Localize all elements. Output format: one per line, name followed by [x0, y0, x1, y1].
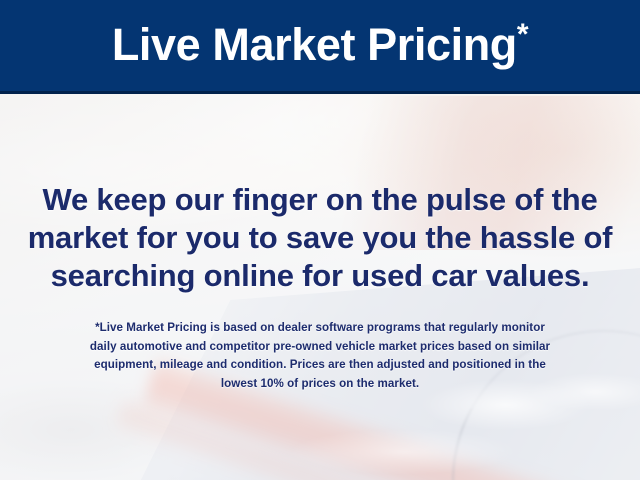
- banner-title-text: Live Market Pricing: [112, 19, 517, 70]
- banner-title: Live Market Pricing*: [112, 22, 528, 70]
- headline: We keep our finger on the pulse of the m…: [0, 181, 640, 295]
- banner-underline: [0, 91, 640, 94]
- disclaimer-line-2: daily automotive and competitor pre-owne…: [34, 338, 606, 357]
- disclaimer-line-3: equipment, mileage and condition. Prices…: [34, 356, 606, 375]
- disclaimer-line-4: lowest 10% of prices on the market.: [34, 375, 606, 394]
- headline-line-2: market for you to save you the hassle of: [0, 219, 640, 257]
- headline-line-3: searching online for used car values.: [0, 257, 640, 295]
- banner-title-asterisk: *: [517, 18, 528, 51]
- disclaimer-line-1: *Live Market Pricing is based on dealer …: [34, 319, 606, 338]
- live-market-pricing-banner-graphic: Live Market Pricing* We keep our finger …: [0, 0, 640, 480]
- disclaimer: *Live Market Pricing is based on dealer …: [34, 319, 606, 393]
- headline-line-1: We keep our finger on the pulse of the: [0, 181, 640, 219]
- header-banner: Live Market Pricing*: [0, 0, 640, 91]
